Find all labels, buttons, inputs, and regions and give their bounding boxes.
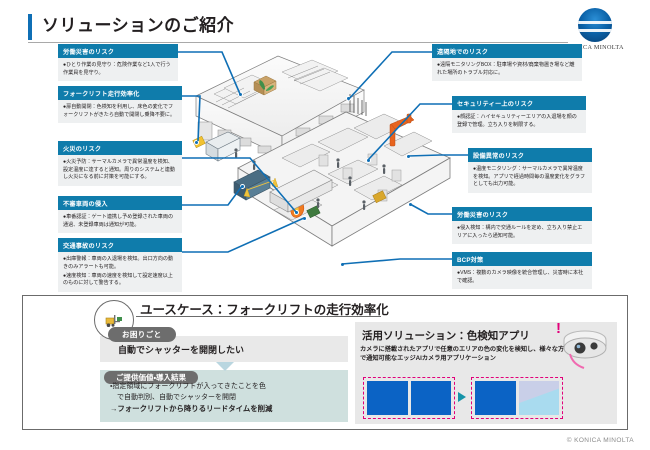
down-arrow-icon: [216, 362, 234, 371]
callout-line: ●温度モニタリング：サーマルカメラで異常温度を検知。アプリで経過時間毎の温度変化…: [473, 166, 587, 189]
callout-setsubi-ijou[interactable]: 設備異常のリスク ●温度モニタリング：サーマルカメラで異常温度を検知。アプリで経…: [468, 148, 592, 193]
demo-cell: [475, 381, 516, 415]
callout-body: ●遠隔モニタリングBOX：駐車場や資材/廃棄物置き場など離れた場所のトラブル対応…: [432, 58, 582, 81]
callout-rodo-saigai[interactable]: 労働災害のリスク ●ひとり作業の見守り：危険作業など1人で行う作業員を見守り。: [58, 44, 178, 81]
title-divider: [28, 42, 568, 43]
anchor-dot-kasai: [294, 210, 299, 215]
konica-minolta-globe-icon: [578, 8, 612, 42]
callout-line: ●顔認証：ハイセキュリティーエリアの入退場を顔の登録で管理。立ち入りを制限する。: [457, 114, 581, 129]
callout-enkakuchi[interactable]: 遠隔地でのリスク ●遠隔モニタリングBOX：駐車場や資材/廃棄物置き場など離れた…: [432, 44, 582, 81]
callout-line: ●VMS：複数のカメラ映像を統合管理し、災害時に本社で確認。: [457, 270, 587, 285]
anchor-dot-rodo2: [408, 202, 413, 207]
title-bar: ソリューションのご紹介: [28, 12, 588, 46]
demo-cell: [411, 381, 452, 415]
title-accent-bar: [28, 14, 32, 40]
callout-kasai[interactable]: 火災のリスク ●火災予防：サーマルカメラで異常温度を検知、設定温度に達すると通知…: [58, 141, 182, 186]
callout-security[interactable]: セキュリティー上のリスク ●顔認証：ハイセキュリティーエリアの入退場を顔の登録で…: [452, 96, 586, 133]
solution-description: カメラに搭載されたアプリで任意のエリアの色の変化を検知し、様々な方法で通知可能な…: [360, 346, 574, 364]
callout-heading: セキュリティー上のリスク: [452, 96, 586, 110]
callout-line: ●ひとり作業の見守り：危険作業など1人で行う作業員を見守り。: [63, 62, 173, 77]
problem-text: 自動でシャッターを開閉したい: [118, 343, 244, 356]
callout-heading: フォークリフト走行効率化: [58, 86, 182, 100]
value-line: で自動判別、自動でシャッターを開閉: [110, 393, 342, 404]
callout-body: ●火災予防：サーマルカメラで異常温度を検知、設定温度に達すると通知。周りのシステ…: [58, 155, 182, 186]
value-result: →フォークリフトから降りるリードタイムを削減: [110, 403, 342, 414]
callout-line: ●火災予防：サーマルカメラで異常温度を検知、設定温度に達すると通知。周りのシステ…: [63, 159, 177, 182]
callout-line: ●速度検知：車両の速度を検知して設定速度以上のものに対して警告する。: [63, 273, 177, 288]
callout-line: ●出庫警報：車両の入退場を検知。出口方向の動きのみアラートも可能。: [63, 256, 177, 271]
callout-body: ●侵入検知：構内で交通ルールを定め、立ち入り禁止エリアに入ったら通知可能。: [452, 221, 592, 244]
callout-heading: 労働災害のリスク: [58, 44, 178, 58]
callout-line: ●扉自動開閉：色検知を利用し、床色の変化でフォークリフトがきたら自動で開閉し乗降…: [63, 104, 177, 119]
solution-title: 活用ソリューション：色検知アプリ: [362, 328, 530, 343]
isometric-facility-svg: [178, 50, 464, 290]
callout-heading: BCP対策: [452, 252, 592, 266]
callout-body: ●扉自動開閉：色検知を利用し、床色の変化でフォークリフトがきたら自動で開閉し乗降…: [58, 100, 182, 123]
callout-body: ●温度モニタリング：サーマルカメラで異常温度を検知。アプリで経過時間毎の温度変化…: [468, 162, 592, 193]
anchor-dot-fushin: [240, 184, 245, 189]
callout-heading: 交通事故のリスク: [58, 238, 182, 252]
callout-heading: 火災のリスク: [58, 141, 182, 155]
warehouse-illustration: [178, 50, 464, 290]
callout-body: ●ひとり作業の見守り：危険作業など1人で行う作業員を見守り。: [58, 58, 178, 81]
problem-label: お困りごと: [108, 327, 176, 342]
demo-cell: [519, 381, 560, 415]
callout-forklift[interactable]: フォークリフト走行効率化 ●扉自動開閉：色検知を利用し、床色の変化でフォークリフ…: [58, 86, 182, 123]
callout-heading: 労働災害のリスク: [452, 207, 592, 221]
callout-line: ●遠隔モニタリングBOX：駐車場や資材/廃棄物置き場など離れた場所のトラブル対応…: [437, 62, 577, 77]
demo-after-group: [471, 377, 563, 419]
exclamation-icon: !: [556, 320, 561, 337]
dome-camera-icon: [556, 320, 614, 370]
anchor-dot-rodo: [238, 92, 243, 97]
callout-heading: 遠隔地でのリスク: [432, 44, 582, 58]
callout-body: ●出庫警報：車両の入退場を検知。出口方向の動きのみアラートも可能。 ●速度検知：…: [58, 252, 182, 292]
usecase-title-divider: [136, 316, 381, 317]
page-title: ソリューションのご紹介: [42, 11, 234, 36]
anchor-dot-enkaku: [346, 96, 351, 101]
value-line: ・指定領域にフォークリフトが入ってきたことを色: [110, 382, 342, 393]
anchor-dot-fork: [194, 140, 199, 145]
callout-body: ●VMS：複数のカメラ映像を統合管理し、災害時に本社で確認。: [452, 266, 592, 289]
value-text: ・指定領域にフォークリフトが入ってきたことを色 で自動判別、自動でシャッターを開…: [110, 382, 342, 414]
anchor-dot-security: [366, 158, 371, 163]
demo-before-group: [363, 377, 455, 419]
callout-rodo-saigai-2[interactable]: 労働災害のリスク ●侵入検知：構内で交通ルールを定め、立ち入り禁止エリアに入った…: [452, 207, 592, 244]
copyright-text: © KONICA MINOLTA: [567, 437, 634, 444]
callout-bcp[interactable]: BCP対策 ●VMS：複数のカメラ映像を統合管理し、災害時に本社で確認。: [452, 252, 592, 289]
callout-kotsu-jiko[interactable]: 交通事故のリスク ●出庫警報：車両の入退場を検知。出口方向の動きのみアラートも可…: [58, 238, 182, 292]
callout-heading: 設備異常のリスク: [468, 148, 592, 162]
slide-root: ソリューションのご紹介 KONICA MINOLTA: [0, 0, 650, 450]
anchor-dot-kotsu: [302, 216, 307, 221]
callout-body: ●車番認証：ゲート連携し予め登録された車両の通過、未登録車両は通知が可能。: [58, 210, 182, 233]
transition-arrow-icon: [458, 392, 466, 402]
anchor-dot-setsubi: [406, 154, 411, 159]
callout-body: ●顔認証：ハイセキュリティーエリアの入退場を顔の登録で管理。立ち入りを制限する。: [452, 110, 586, 133]
callout-line: ●侵入検知：構内で交通ルールを定め、立ち入り禁止エリアに入ったら通知可能。: [457, 225, 587, 240]
demo-cell: [367, 381, 408, 415]
callout-heading: 不審車両の侵入: [58, 196, 182, 210]
anchor-dot-bcp: [340, 262, 345, 267]
problem-label-wrap: お困りごと: [108, 324, 176, 342]
callout-fushin-sharyo[interactable]: 不審車両の侵入 ●車番認証：ゲート連携し予め登録された車両の通過、未登録車両は通…: [58, 196, 182, 233]
callout-line: ●車番認証：ゲート連携し予め登録された車両の通過、未登録車両は通知が可能。: [63, 214, 177, 229]
